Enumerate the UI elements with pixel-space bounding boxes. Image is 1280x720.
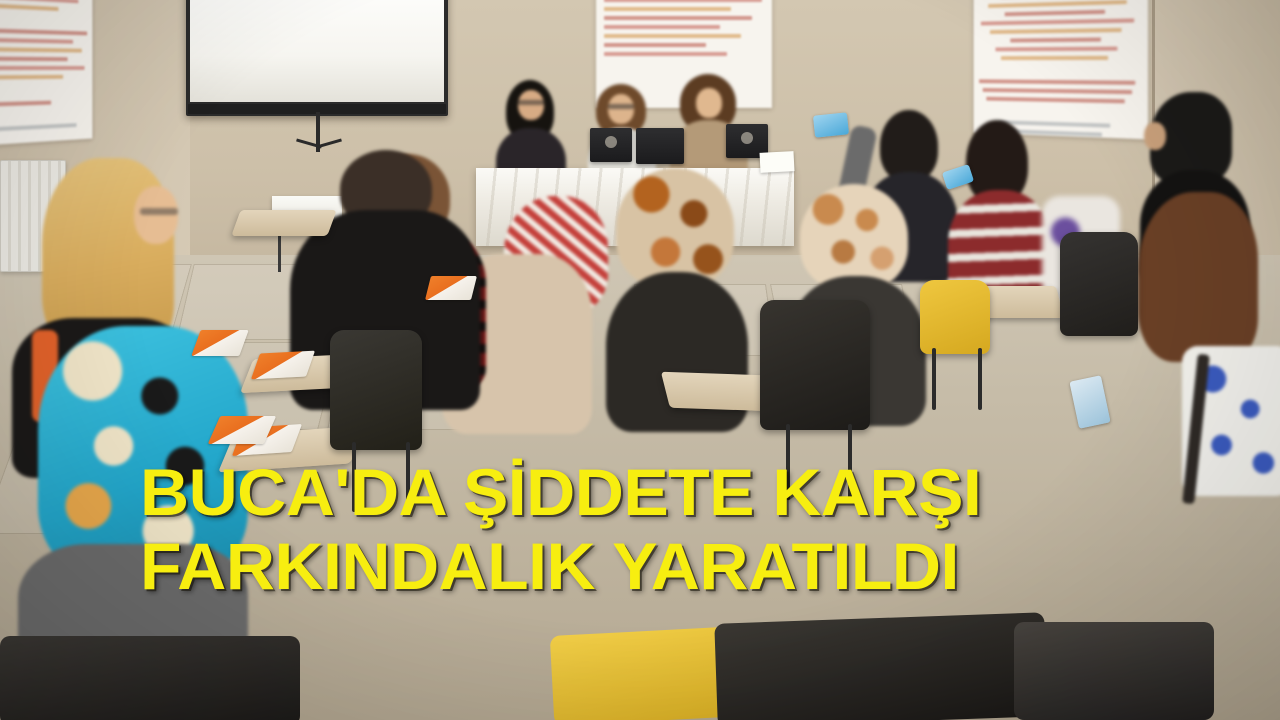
chair-leg-yellow-1 [932,348,936,410]
brochure-5 [425,276,477,300]
headline-overlay: BUCA'DA ŞİDDETE KARŞI FARKINDALIK YARATI… [140,455,1150,603]
projection-screen [186,0,448,116]
laptop-center [636,128,684,164]
projection-screen-surface [190,0,444,102]
chair-seat-left-foreground [0,636,300,720]
chair-seat-dark-right-foreground [1014,622,1214,720]
nameplate [759,151,794,173]
news-photo-stage: BUCA'DA ŞİDDETE KARŞI FARKINDALIK YARATI… [0,0,1280,720]
poster-left [0,0,92,146]
brochure-1 [251,351,315,380]
desk-tablet-3 [231,210,336,236]
headline-line-1: BUCA'DA ŞİDDETE KARŞI [140,455,1180,529]
chair-back-center [760,300,870,430]
brochure-3 [191,330,248,356]
headline-line-2: FARKINDALIK YARATILDI [140,529,1180,603]
chair-back-right [1060,232,1138,336]
chair-seat-dark-foreground [714,612,1047,720]
chair-back-yellow [920,280,990,354]
chair-back-left-1 [330,330,422,450]
raised-phone [813,112,849,137]
poster-right [974,0,1148,139]
laptop-left [590,128,632,162]
chair-leg-yellow-2 [978,348,982,410]
